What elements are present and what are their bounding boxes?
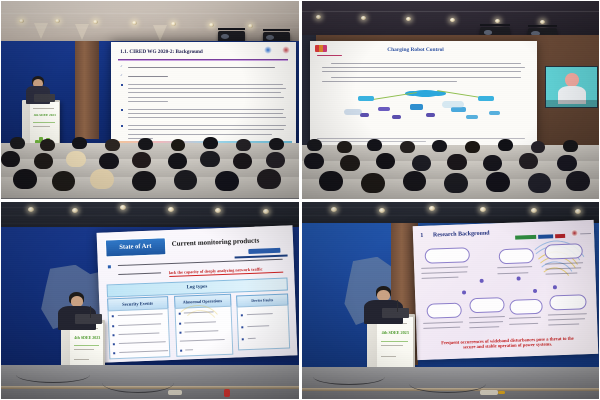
ceiling-lamp — [209, 23, 214, 27]
map-marker-icon — [516, 276, 520, 280]
ceiling-lamp — [406, 17, 411, 21]
audience-head — [132, 152, 151, 168]
audience-head — [257, 169, 281, 189]
audience-head — [10, 137, 25, 149]
ceiling-lamp — [248, 24, 253, 28]
network-node — [378, 107, 389, 111]
network-node — [489, 111, 500, 115]
remote-video-feed — [545, 66, 598, 108]
audience-head — [444, 173, 468, 193]
audience-head — [171, 139, 186, 151]
audience-head — [367, 139, 382, 151]
audience-head — [403, 171, 427, 191]
audience-head — [400, 141, 415, 153]
callout-shandong — [509, 298, 542, 315]
audience-head — [90, 169, 114, 189]
audience-head — [557, 155, 576, 171]
network-node — [466, 115, 477, 119]
audience-head — [168, 153, 187, 169]
audience-head — [34, 153, 53, 169]
audience-head — [566, 171, 590, 191]
audience-head — [13, 169, 37, 189]
ceiling-lamp — [171, 22, 176, 26]
panel-top-right: Charging Robot Control — [302, 1, 600, 199]
projection-screen: Charging Robot Control — [310, 41, 536, 148]
audience-head — [105, 139, 120, 151]
slide-title: 1.1. CIRED WG 2020-2: Background — [120, 49, 203, 55]
led-screen: 1 Research Background — [412, 220, 598, 361]
audience-head — [498, 139, 513, 151]
panel-top-left: 1.1. CIRED WG 2020-2: Background ✓ ✓ — [1, 1, 299, 199]
audience-head — [376, 153, 395, 169]
audience-head — [132, 171, 156, 191]
callout-shanghai — [544, 243, 583, 260]
state-of-art-badge: State of Art — [105, 237, 167, 258]
network-node — [478, 96, 494, 101]
projector-mount — [263, 29, 290, 31]
audience-head — [266, 152, 285, 168]
ceiling-lamp — [93, 20, 98, 24]
audience-head — [361, 173, 385, 193]
podium-banner-title: 4th SDEE 2023 — [74, 335, 100, 340]
audience-head — [432, 140, 447, 152]
lamp-beam — [75, 24, 89, 40]
remote-speaker-head — [565, 73, 579, 87]
projector-mount — [480, 24, 510, 26]
slide-title: Charging Robot Control — [387, 47, 444, 53]
audience-head — [531, 141, 546, 153]
ceiling-lamp — [55, 19, 60, 23]
audience-head — [52, 171, 76, 191]
network-node — [426, 113, 435, 117]
audience-head — [99, 153, 118, 169]
speaker-laptop — [75, 314, 102, 324]
university-logo-icon — [315, 45, 327, 52]
audience-head — [528, 173, 552, 193]
projection-screen: 1.1. CIRED WG 2020-2: Background ✓ ✓ — [111, 42, 295, 151]
slide-banner-blue — [538, 234, 553, 239]
audience-head — [519, 153, 538, 169]
network-node — [358, 96, 374, 101]
ceiling-lamp — [19, 19, 24, 23]
floor-connector — [168, 390, 183, 395]
callout-toronto — [424, 247, 470, 264]
audience-head — [304, 153, 323, 169]
audience-head — [486, 172, 510, 192]
map-marker-icon — [462, 290, 466, 294]
floor-cable — [409, 374, 486, 393]
water-bottle — [224, 389, 230, 397]
projector-mount — [528, 25, 558, 27]
state-of-art-badge-label: State of Art — [106, 238, 165, 257]
callout-inner-mongolia — [498, 248, 533, 265]
network-group — [442, 101, 465, 107]
wall-column — [75, 41, 99, 140]
conference-logo-icon — [264, 46, 272, 54]
audience-head — [236, 139, 251, 151]
speaker-laptop — [382, 308, 409, 318]
ceiling-lamp — [540, 20, 545, 24]
audience-head — [1, 151, 20, 167]
audience-head — [340, 155, 359, 171]
network-group — [344, 109, 362, 115]
podium-banner-title: 4th SDEE 2023 — [382, 330, 409, 335]
audience-head — [174, 170, 198, 190]
callout-egypt — [469, 297, 504, 314]
ceiling-lamp — [361, 16, 366, 20]
ceiling-lamp — [450, 18, 455, 22]
network-node — [392, 115, 401, 119]
microphone — [397, 300, 398, 312]
audience-head — [233, 153, 252, 169]
ceiling-lamp — [132, 21, 137, 25]
ceiling-truss — [1, 13, 299, 14]
audience-head — [72, 137, 87, 149]
photo-collage: 1.1. CIRED WG 2020-2: Background ✓ ✓ — [0, 0, 600, 400]
slide-number: 1 — [420, 233, 423, 239]
audience-head — [319, 171, 343, 191]
audience-head — [465, 141, 480, 153]
audience-head — [337, 141, 352, 153]
lamp-beam — [34, 23, 48, 39]
floor-connector — [480, 390, 498, 395]
audience-head — [447, 154, 466, 170]
ceiling-lamp — [495, 19, 500, 23]
video-feed-label — [546, 100, 597, 106]
audience-head — [200, 151, 219, 167]
audience-head — [412, 155, 431, 171]
audience-head — [563, 140, 578, 152]
callout-hainan — [549, 294, 586, 311]
audience-head — [40, 139, 55, 151]
audience-head — [203, 137, 218, 149]
podium-banner-title: 4th SDEE 2023 — [34, 113, 56, 117]
callout-texas — [426, 303, 461, 320]
led-screen: State of Art Current monitoring products… — [97, 225, 298, 363]
speaker-laptop — [34, 94, 55, 102]
column-body-device-faults — [237, 305, 290, 351]
network-node — [410, 104, 424, 109]
audience-head — [483, 155, 502, 171]
floor-cable — [102, 372, 173, 393]
ceiling-truss — [302, 11, 600, 12]
panel-bottom-right: 1 Research Background — [302, 202, 600, 400]
slide-banner-red — [554, 234, 565, 239]
audience-head — [307, 139, 322, 151]
panel-bottom-left: State of Art Current monitoring products… — [1, 202, 299, 400]
audience-head — [66, 151, 85, 167]
audience-head — [269, 138, 284, 150]
lamp-beam — [153, 25, 167, 41]
projector-mount — [218, 28, 245, 30]
audience-head — [138, 138, 153, 150]
audience-head — [215, 171, 239, 191]
